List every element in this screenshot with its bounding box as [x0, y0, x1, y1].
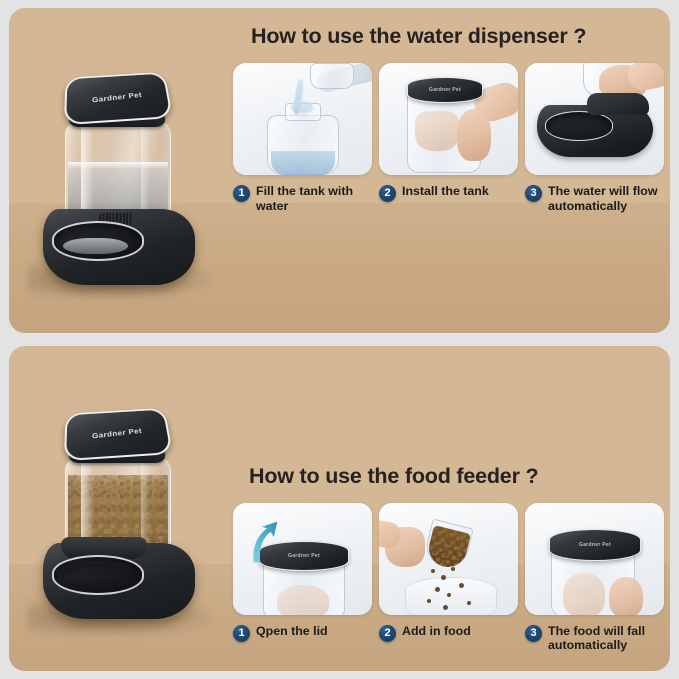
- step-thumbnail-open-lid: Gardner Pet: [233, 503, 372, 615]
- food-bowl: [52, 555, 144, 595]
- feeder-base: [43, 543, 195, 619]
- falling-kibble: [451, 567, 455, 571]
- step-caption: 2 Install the tank: [379, 184, 518, 213]
- water-in-tank: [271, 151, 335, 175]
- step-number-badge: 3: [525, 625, 542, 642]
- water-steps-content: How to use the water dispenser ?: [227, 8, 670, 333]
- food-steps-content: How to use the food feeder ? Gardner Pet: [227, 346, 670, 671]
- bowl-water-level: [63, 238, 128, 254]
- lid-brand-text: Gardner Pet: [288, 553, 320, 559]
- step-thumbnail-food-falls: Gardner Pet: [525, 503, 664, 615]
- water-step-captions: 1 Fill the tank with water 2 Install the…: [233, 184, 664, 213]
- hand-left: [563, 573, 605, 615]
- container-lid: Gardner Pet: [407, 77, 483, 103]
- falling-kibble: [427, 599, 431, 603]
- container-lid: Gardner Pet: [549, 529, 641, 561]
- step-thumbnail-water-flows: [525, 63, 664, 175]
- hand-right: [609, 577, 643, 615]
- step-number-badge: 1: [233, 185, 250, 202]
- brand-label: Gardner Pet: [92, 90, 143, 104]
- step-caption: 1 Qpen the lid: [233, 624, 372, 653]
- step-label: The food will fall automatically: [548, 624, 664, 653]
- hand-left: [415, 111, 459, 151]
- pitcher: [310, 63, 354, 89]
- step-label: The water will flow automatically: [548, 184, 664, 213]
- falling-kibble: [441, 575, 446, 580]
- water-dispenser-device: Gardner Pet: [43, 71, 195, 285]
- step-number-badge: 2: [379, 625, 396, 642]
- food-step-captions: 1 Qpen the lid 2 Add in food 3 The food …: [233, 624, 664, 653]
- step-number-badge: 1: [233, 625, 250, 642]
- food-step-thumbnails: Gardner Pet: [233, 503, 664, 615]
- dispenser-base: [43, 209, 195, 285]
- falling-kibble: [443, 605, 448, 610]
- step-thumbnail-add-food: [379, 503, 518, 615]
- base-top-deck: [587, 93, 649, 115]
- bowl-below: [405, 577, 497, 615]
- step-number-badge: 3: [525, 185, 542, 202]
- falling-kibble: [447, 593, 451, 597]
- lid-brand-text: Gardner Pet: [429, 87, 461, 93]
- device-lid: Gardner Pet: [64, 72, 173, 125]
- food-feeder-device: Gardner Pet: [43, 407, 195, 619]
- step-label: Add in food: [402, 624, 471, 639]
- lift-arrow-icon: [245, 519, 279, 565]
- step-thumbnail-fill-tank: [233, 63, 372, 175]
- step-number-badge: 2: [379, 185, 396, 202]
- water-bowl: [545, 111, 613, 141]
- step-caption: 3 The water will flow automatically: [525, 184, 664, 213]
- water-dispenser-product-image: Gardner Pet: [9, 8, 227, 333]
- water-splash: [291, 101, 313, 113]
- lid-brand-text: Gardner Pet: [579, 542, 611, 548]
- step-caption: 1 Fill the tank with water: [233, 184, 372, 213]
- hand-holding: [277, 585, 329, 615]
- step-label: Fill the tank with water: [256, 184, 372, 213]
- water-section-heading: How to use the water dispenser ?: [251, 24, 664, 49]
- falling-kibble: [431, 569, 435, 573]
- step-caption: 2 Add in food: [379, 624, 518, 653]
- falling-kibble: [467, 601, 471, 605]
- food-section-heading: How to use the food feeder ?: [249, 464, 664, 489]
- water-step-thumbnails: Gardner Pet: [233, 63, 664, 175]
- water-dispenser-panel: Gardner Pet How to use the water dispens…: [9, 8, 670, 333]
- step-thumbnail-install-tank: Gardner Pet: [379, 63, 518, 175]
- device-lid: Gardner Pet: [64, 408, 173, 461]
- brand-label: Gardner Pet: [92, 426, 143, 440]
- bowl-kibble: [61, 564, 130, 588]
- food-feeder-panel: Gardner Pet How to use the food feeder ?: [9, 346, 670, 671]
- water-bowl: [52, 221, 144, 261]
- food-feeder-product-image: Gardner Pet: [9, 346, 227, 671]
- step-label: Qpen the lid: [256, 624, 328, 639]
- step-label: Install the tank: [402, 184, 489, 199]
- infographic-page: Gardner Pet How to use the water dispens…: [0, 0, 679, 679]
- falling-kibble: [459, 583, 464, 588]
- step-caption: 3 The food will fall automatically: [525, 624, 664, 653]
- falling-kibble: [435, 587, 440, 592]
